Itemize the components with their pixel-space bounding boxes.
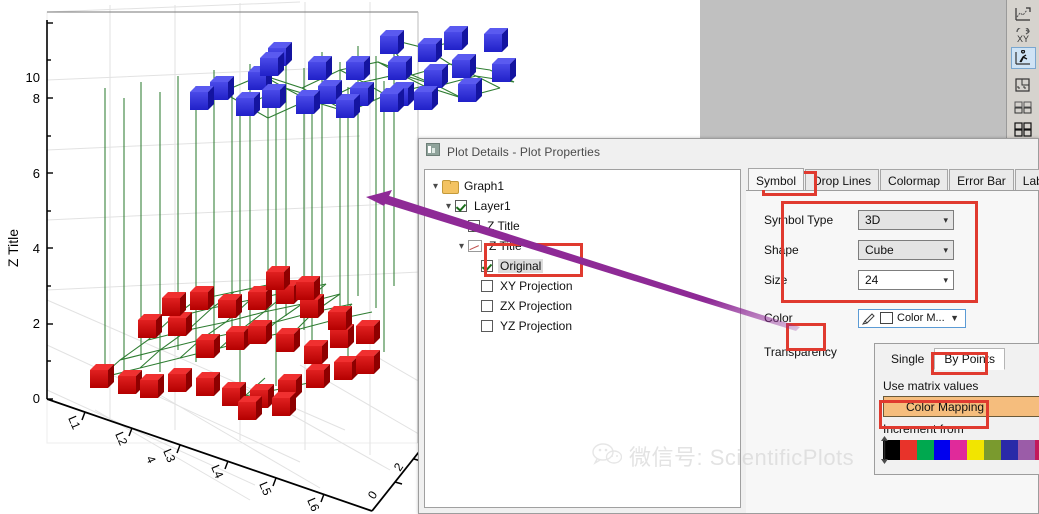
color-mapping-label: Color Mapping [906,400,984,414]
chevron-down-icon: ▾ [943,275,951,286]
color-value: Color M... [897,312,945,324]
chevron-down-icon: ▾ [943,215,951,226]
symbol-type-select[interactable]: 3D ▾ [858,210,954,230]
symbol-type-label: Symbol Type [764,213,858,227]
tree-label: YZ Projection [498,319,574,333]
svg-text:L1: L1 [65,414,83,432]
chevron-down-icon[interactable]: ▼ [950,313,962,323]
speed-mode-tool-icon[interactable] [1011,47,1036,68]
folder-icon [442,180,457,192]
chevron-down-icon[interactable]: ▾ [455,241,468,252]
tab-colormap[interactable]: Colormap [880,169,948,190]
tree-item-yz-projection[interactable]: YZ Projection [429,316,736,336]
tree-item-z-title[interactable]: Z Title [429,216,736,236]
gradient-stop [934,440,951,460]
tab-by-points[interactable]: By Points [934,348,1005,370]
property-tabs[interactable]: Symbol Drop Lines Colormap Error Bar Lab… [746,169,1038,191]
plot-tree[interactable]: ▾ Graph1 ▾ Layer1 Z Title ▾ Z Title [424,169,741,508]
chevron-down-icon: ▾ [943,245,951,256]
gradient-stop [984,440,1001,460]
tab-error-bar[interactable]: Error Bar [949,169,1014,190]
svg-text:L2: L2 [112,430,130,448]
dialog-titlebar[interactable]: Plot Details - Plot Properties [419,139,1038,165]
gradient-stop [1001,440,1018,460]
color-row: Color Color M... ▼ [764,305,1038,331]
tree-label: Layer1 [472,199,513,213]
pen-icon [862,312,876,325]
color-mapping-item[interactable]: Color Mapping [883,396,1039,417]
tab-drop-lines[interactable]: Drop Lines [805,169,879,190]
lower-symbols [90,266,380,420]
size-row: Size 24 ▾ [764,265,1038,295]
tree-item-layer1[interactable]: ▾ Layer1 [429,196,736,216]
color-label: Color [764,311,858,325]
symbol-type-value: 3D [865,213,880,227]
color-dropdown-body: Use matrix values Color Mapping Incremen… [875,370,1039,460]
z-axis-title: Z Title [5,229,21,267]
svg-text:8: 8 [33,91,40,106]
transparency-label: Transparency [764,345,858,359]
tab-label: Error Bar [957,174,1006,188]
tab-label: Drop Lines [813,174,871,188]
gradient-slider-handle[interactable] [880,436,889,464]
shape-label: Shape [764,243,858,257]
size-select[interactable]: 24 ▾ [858,270,954,290]
tree-label: Original [498,259,543,273]
tab-symbol[interactable]: Symbol [748,168,804,190]
tree-checkbox[interactable] [481,320,493,332]
merge-graph-tool-icon[interactable] [1011,74,1036,95]
size-value: 24 [865,273,878,287]
svg-text:2: 2 [33,316,40,331]
svg-text:L6: L6 [304,496,322,514]
extract-layers-tool-icon[interactable] [1011,97,1036,118]
tree-checkbox[interactable] [481,260,493,272]
settings-pane: Symbol Drop Lines Colormap Error Bar Lab… [746,165,1038,513]
gradient-stop [900,440,917,460]
svg-text:0: 0 [33,391,40,406]
tree-label: Z Title [485,219,522,233]
size-label: Size [764,273,858,287]
tree-label: Graph1 [462,179,506,193]
tree-checkbox[interactable] [481,280,493,292]
color-select[interactable]: Color M... ▼ [858,309,966,328]
plot-details-window-icon [426,143,440,161]
svg-text:4: 4 [143,454,159,466]
gradient-stop [950,440,967,460]
rescale-tool-icon[interactable] [1011,3,1036,24]
gradient-stop [1018,440,1035,460]
tab-label: Label [1023,174,1039,188]
z-axis: 0 2 4 6 8 8 x x x x x x x 10 Z Title [5,20,53,406]
gradient-stop [917,440,934,460]
plot-tree-pane: ▾ Graph1 ▾ Layer1 Z Title ▾ Z Title [419,165,746,513]
gradient-stop [1035,440,1039,460]
tab-label: By Points [944,352,995,366]
plot-details-dialog[interactable]: Plot Details - Plot Properties ▾ Graph1 … [418,138,1039,514]
tree-label: XY Projection [498,279,575,293]
tab-single[interactable]: Single [881,348,934,370]
tree-item-original[interactable]: Original [429,256,736,276]
x-axis: L1 L2 L3 L4 L5 L6 4 [47,399,372,514]
use-matrix-values-label[interactable]: Use matrix values [883,378,1039,394]
xy-exchange-tool-icon[interactable]: XY [1011,25,1036,46]
tree-item-z-title-plot[interactable]: ▾ Z Title [429,236,736,256]
increment-from-label[interactable]: Increment from [883,421,1039,437]
gradient-stop [967,440,984,460]
tree-item-zx-projection[interactable]: ZX Projection [429,296,736,316]
tree-label: ZX Projection [498,299,574,313]
color-mode-tabs[interactable]: Single By Points [875,344,1039,370]
tab-label[interactable]: Label [1015,169,1039,190]
color-swatch [880,312,893,324]
shape-value: Cube [865,243,894,257]
tree-item-xy-projection[interactable]: XY Projection [429,276,736,296]
curve-icon [468,240,482,252]
svg-text:0: 0 [365,488,381,502]
tree-item-graph1[interactable]: ▾ Graph1 [429,176,736,196]
shape-row: Shape Cube ▾ [764,235,1038,265]
chevron-down-icon[interactable]: ▾ [429,181,442,192]
color-gradient-bar[interactable] [883,440,1039,460]
svg-text:L5: L5 [256,480,274,498]
tab-label: Colormap [888,174,940,188]
dialog-body: ▾ Graph1 ▾ Layer1 Z Title ▾ Z Title [419,165,1038,513]
svg-text:6: 6 [33,166,40,181]
chevron-down-icon[interactable]: ▾ [442,201,455,212]
svg-text:XY: XY [1017,34,1029,44]
tab-label: Single [891,352,924,366]
tree-checkbox[interactable] [481,300,493,312]
svg-text:4: 4 [33,241,40,256]
dialog-title: Plot Details - Plot Properties [447,145,600,159]
symbol-type-row: Symbol Type 3D ▾ [764,205,1038,235]
tree-label: Z Title [487,239,524,253]
tab-label: Symbol [756,174,796,188]
graph-tools-toolbar[interactable]: XY [1006,0,1039,140]
shape-select[interactable]: Cube ▾ [858,240,954,260]
toolbar-separator [1011,70,1036,74]
extract-graphs-tool-icon[interactable] [1011,119,1036,140]
tree-checkbox[interactable] [468,220,480,232]
color-dropdown-panel[interactable]: Single By Points Use matrix values Color… [874,343,1039,475]
tree-checkbox[interactable] [455,200,467,212]
svg-text:10: 10 [26,70,40,85]
